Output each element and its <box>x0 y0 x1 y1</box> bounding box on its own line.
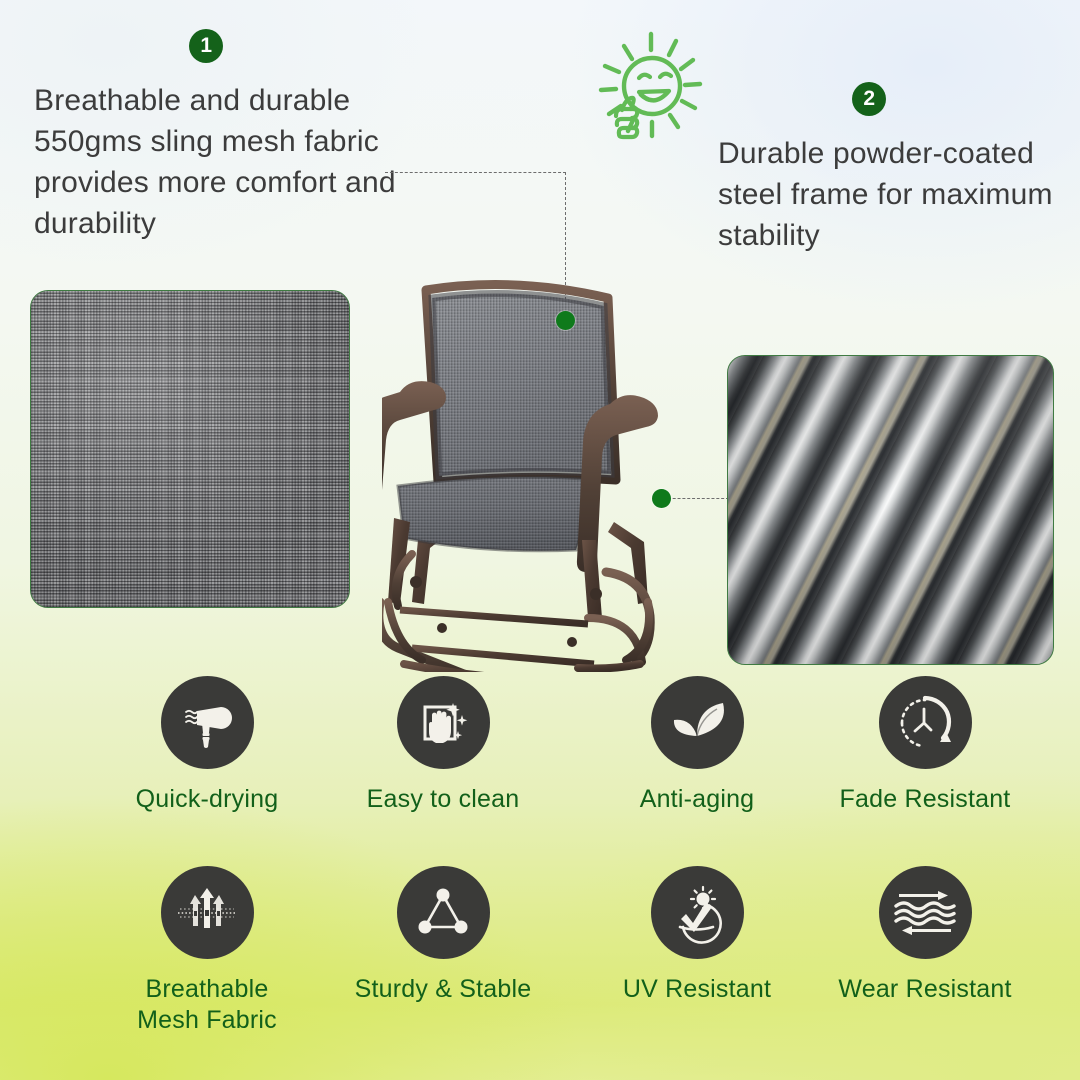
smiling-sun-thumbsup-icon <box>592 24 710 146</box>
fabric-swatch-image <box>30 290 350 608</box>
leaves-icon <box>651 676 744 769</box>
feature-breathable-mesh-fabric: Breathable Mesh Fabric <box>87 866 327 1035</box>
feature-label: Wear Resistant <box>805 974 1045 1005</box>
feature-label: Anti-aging <box>577 784 817 815</box>
waves-arrows-icon <box>879 866 972 959</box>
feature-label: UV Resistant <box>577 974 817 1005</box>
feature-icon-grid: Quick-drying Easy to clean <box>0 676 1080 1080</box>
feature-label: Easy to clean <box>323 784 563 815</box>
steel-tubes-image <box>727 355 1054 665</box>
hair-dryer-icon <box>161 676 254 769</box>
callout-badge-2: 2 <box>852 82 886 116</box>
callout-badge-1: 1 <box>189 29 223 63</box>
steel-vignette-overlay <box>728 356 1053 664</box>
product-glider-chair-image <box>382 272 722 672</box>
feature-quick-drying: Quick-drying <box>87 676 327 815</box>
feature-easy-to-clean: Easy to clean <box>323 676 563 815</box>
triangle-nodes-icon <box>397 866 490 959</box>
feature-fade-resistant: Fade Resistant <box>805 676 1045 815</box>
connector-1-horizontal <box>385 172 566 173</box>
clock-arrow-icon <box>879 676 972 769</box>
feature-sturdy-stable: Sturdy & Stable <box>323 866 563 1005</box>
feature-label: Quick-drying <box>87 784 327 815</box>
feature-row-1: Quick-drying Easy to clean <box>0 676 1080 872</box>
callout-text-1: Breathable and durable 550gms sling mesh… <box>34 80 464 244</box>
infographic-page: 1 Breathable and durable 550gms sling me… <box>0 0 1080 1080</box>
feature-label: Fade Resistant <box>805 784 1045 815</box>
sun-checkmark-icon <box>651 866 744 959</box>
feature-label: Sturdy & Stable <box>323 974 563 1005</box>
airflow-arrows-icon <box>161 866 254 959</box>
feature-label: Breathable Mesh Fabric <box>87 974 327 1035</box>
feature-wear-resistant: Wear Resistant <box>805 866 1045 1005</box>
callout-anchor-dot-1 <box>556 311 575 330</box>
wiping-hand-sparkle-icon <box>397 676 490 769</box>
fabric-sheen-overlay <box>31 291 349 607</box>
feature-row-2: Breathable Mesh Fabric St <box>0 866 1080 1062</box>
callout-text-2: Durable powder-coated steel frame for ma… <box>718 133 1068 256</box>
callout-anchor-dot-2 <box>652 489 671 508</box>
feature-uv-resistant: UV Resistant <box>577 866 817 1005</box>
feature-anti-aging: Anti-aging <box>577 676 817 815</box>
